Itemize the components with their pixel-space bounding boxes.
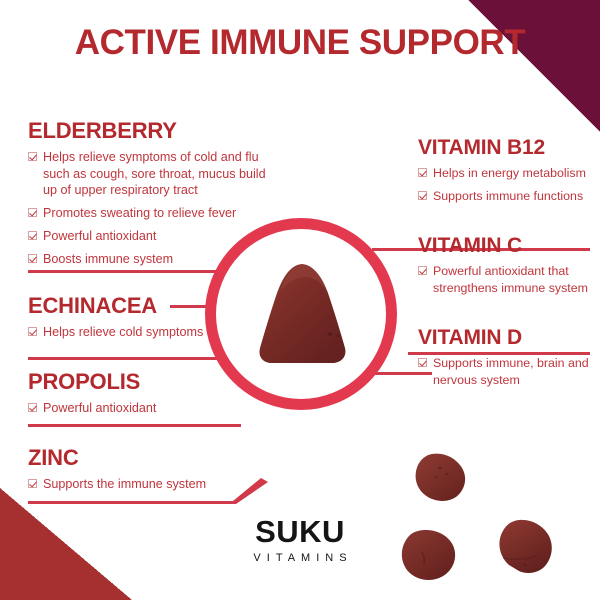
benefit-text: Powerful antioxidant	[43, 228, 156, 245]
benefit-text: Supports immune functions	[433, 188, 583, 205]
checkbox-icon	[28, 208, 37, 217]
benefit-text: Helps relieve cold symptoms	[43, 324, 203, 341]
benefit-text: Helps relieve symptoms of cold and flu s…	[43, 149, 266, 199]
checkbox-icon	[28, 231, 37, 240]
section-vitamin-c: VITAMIN C Powerful antioxidant that stre…	[418, 234, 590, 296]
list-item: Powerful antioxidant that strengthens im…	[418, 263, 590, 296]
center-gummy-image	[252, 262, 352, 366]
infographic-poster: ACTIVE IMMUNE SUPPORT ELDERBERRY Helps r…	[0, 0, 600, 600]
checkbox-icon	[418, 168, 427, 177]
corner-decoration-top-right	[468, 0, 600, 132]
section-vitamin-d: VITAMIN D Supports immune, brain and ner…	[418, 326, 590, 388]
section-heading: VITAMIN C	[418, 234, 590, 258]
benefit-list: Supports the immune system	[28, 476, 266, 493]
benefit-list: Powerful antioxidant that strengthens im…	[418, 263, 590, 296]
list-item: Supports immune, brain and nervous syste…	[418, 355, 590, 388]
section-zinc: ZINC Supports the immune system	[28, 445, 266, 493]
list-item: Helps relieve symptoms of cold and flu s…	[28, 149, 266, 199]
right-ingredient-column: VITAMIN B12 Helps in energy metabolism S…	[418, 136, 590, 394]
benefit-text: Supports the immune system	[43, 476, 206, 493]
benefit-text: Boosts immune system	[43, 251, 173, 268]
checkbox-icon	[28, 479, 37, 488]
section-heading: ELDERBERRY	[28, 118, 266, 144]
list-item: Supports immune functions	[418, 188, 590, 205]
section-vitamin-b12: VITAMIN B12 Helps in energy metabolism S…	[418, 136, 590, 204]
benefit-text: Supports immune, brain and nervous syste…	[433, 355, 590, 388]
checkbox-icon	[28, 152, 37, 161]
checkbox-icon	[418, 191, 427, 200]
page-title: ACTIVE IMMUNE SUPPORT	[0, 22, 600, 65]
benefit-text: Helps in energy metabolism	[433, 165, 586, 182]
section-heading: VITAMIN B12	[418, 136, 590, 160]
checkbox-icon	[28, 254, 37, 263]
benefit-text: Powerful antioxidant that strengthens im…	[433, 263, 590, 296]
gummy-image-1	[410, 452, 470, 504]
list-item: Powerful antioxidant	[28, 228, 266, 245]
checkbox-icon	[418, 358, 427, 367]
benefit-text: Promotes sweating to relieve fever	[43, 205, 236, 222]
benefit-text: Powerful antioxidant	[43, 400, 156, 417]
checkbox-icon	[28, 403, 37, 412]
section-heading: ZINC	[28, 445, 266, 471]
section-heading: VITAMIN D	[418, 326, 590, 350]
list-item: Supports the immune system	[28, 476, 266, 493]
benefit-list: Supports immune, brain and nervous syste…	[418, 355, 590, 388]
list-item: Powerful antioxidant	[28, 400, 266, 417]
checkbox-icon	[28, 327, 37, 336]
gummy-image-3	[495, 518, 557, 576]
benefit-list: Powerful antioxidant	[28, 400, 266, 417]
gummy-image-2	[398, 528, 460, 584]
checkbox-icon	[418, 266, 427, 275]
list-item: Promotes sweating to relieve fever	[28, 205, 266, 222]
section-elderberry: ELDERBERRY Helps relieve symptoms of col…	[28, 118, 266, 267]
list-item: Helps in energy metabolism	[418, 165, 590, 182]
benefit-list: Helps in energy metabolism Supports immu…	[418, 165, 590, 204]
